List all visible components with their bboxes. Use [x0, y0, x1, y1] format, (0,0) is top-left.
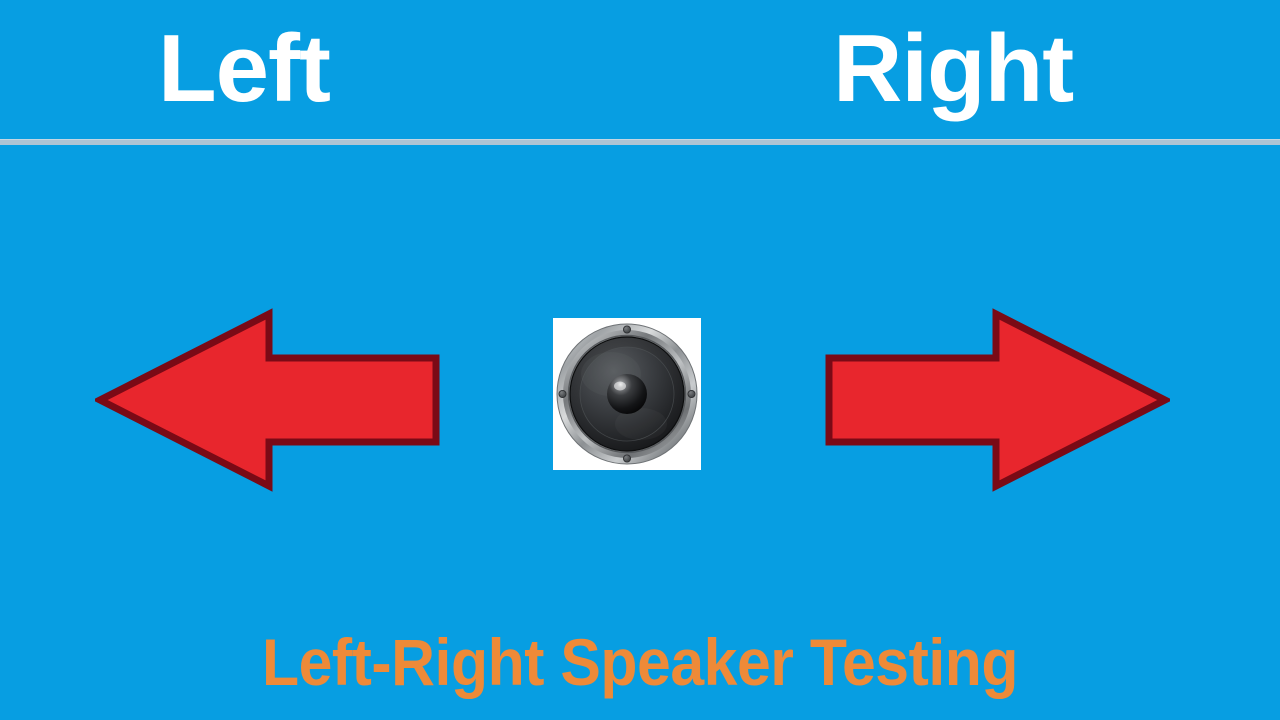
speaker-icon	[555, 322, 699, 466]
header-band: Left Right	[0, 0, 1280, 140]
speaker-plate	[553, 318, 701, 470]
speaker-test-screen: Left Right	[0, 0, 1280, 720]
caption-text: Left-Right Speaker Testing	[51, 626, 1229, 698]
header-divider	[0, 139, 1280, 145]
header-label-left: Left	[158, 13, 330, 125]
left-arrow-icon	[95, 305, 440, 495]
right-arrow-icon	[825, 305, 1170, 495]
header-label-right: Right	[833, 13, 1073, 125]
